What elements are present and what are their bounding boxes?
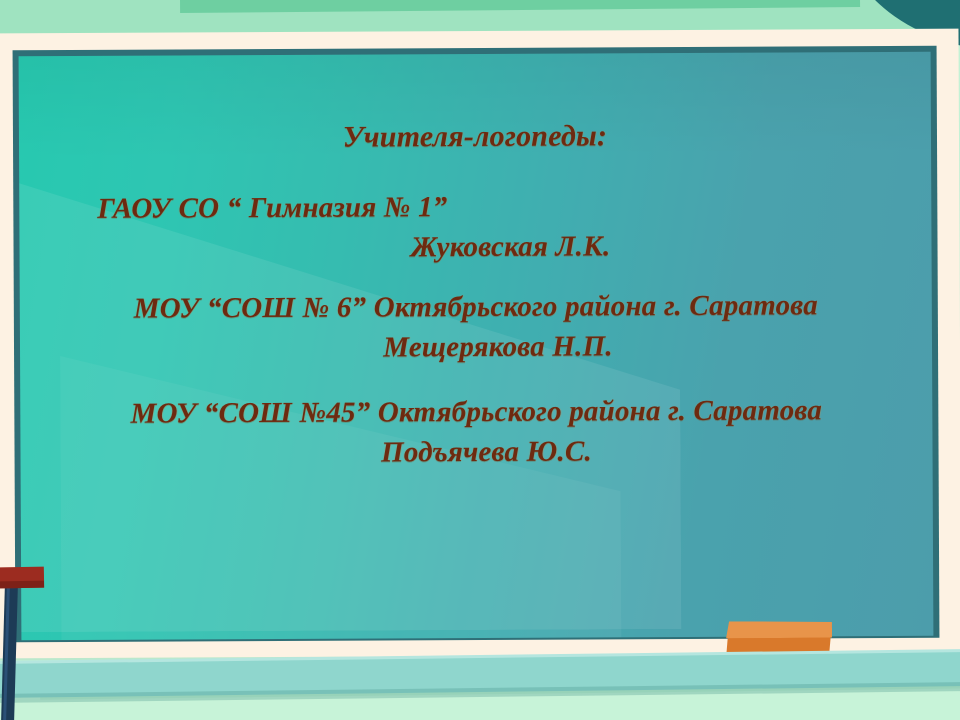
- entry-organization-3: МОУ “СОШ №45” Октябрьского района г. Сар…: [20, 396, 932, 429]
- entry-person-3: Подъячева Ю.С.: [20, 436, 932, 469]
- entry-block-3: МОУ “СОШ №45” Октябрьского района г. Сар…: [20, 396, 932, 469]
- entry-organization-1: ГАОУ СО “ Гимназия № 1”: [19, 191, 931, 224]
- entry-person-1: Жуковская Л.К.: [19, 231, 931, 264]
- entry-person-2: Мещерякова Н.П.: [20, 331, 932, 364]
- board-eraser-top-face[interactable]: [726, 621, 832, 639]
- board-text-content: Учителя-логопеды: ГАОУ СО “ Гимназия № 1…: [19, 52, 934, 640]
- entry-block-2: МОУ “СОШ № 6” Октябрьского района г. Сар…: [20, 291, 932, 364]
- chalkboard-surface: Учителя-логопеды: ГАОУ СО “ Гимназия № 1…: [19, 52, 934, 640]
- entry-block-1: ГАОУ СО “ Гимназия № 1” Жуковская Л.К.: [19, 191, 931, 264]
- entry-organization-2: МОУ “СОШ № 6” Октябрьского района г. Сар…: [20, 291, 932, 324]
- pointer-stick-head-shade: [0, 581, 44, 589]
- slide-title: Учителя-логопеды:: [19, 120, 931, 154]
- presentation-slide: Учителя-логопеды: ГАОУ СО “ Гимназия № 1…: [0, 0, 960, 720]
